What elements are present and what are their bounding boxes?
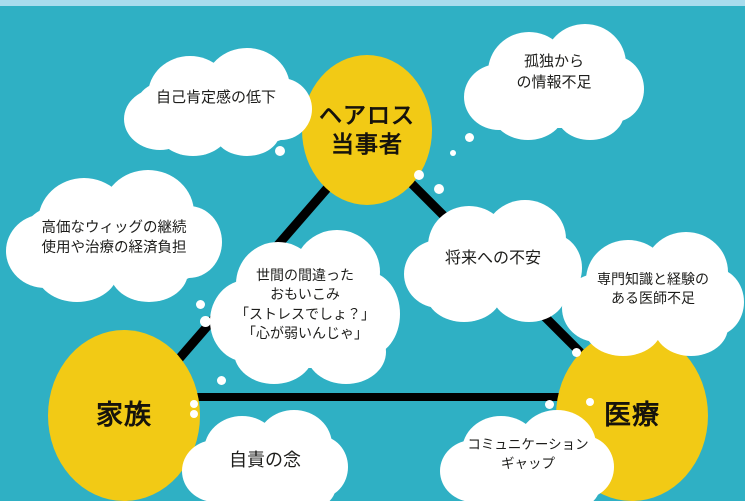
cloud-self-esteem-text: 自己肯定感の低下 xyxy=(118,88,314,109)
node-accent-dot xyxy=(414,170,424,180)
cloud-self-blame: 自責の念 xyxy=(182,408,348,501)
cloud-tail-dot xyxy=(217,376,226,385)
cloud-tail-dot xyxy=(275,146,285,156)
cloud-tail-dot xyxy=(465,133,474,142)
cloud-communication-gap: コミュニケーション ギャップ xyxy=(440,408,616,501)
node-hairloss-person[interactable]: ヘアロス 当事者 xyxy=(302,55,432,205)
cloud-isolation-info-text: 孤独から の情報不足 xyxy=(464,52,644,93)
cloud-tail-dot xyxy=(572,348,581,357)
node-hairloss-person-label: ヘアロス 当事者 xyxy=(319,101,415,160)
node-accent-dot xyxy=(190,410,198,418)
diagram-canvas: 自己肯定感の低下 孤独から の情報不足 高価なウィッグの継続 使用や治療の経済負… xyxy=(0,0,745,501)
cloud-tail-dot xyxy=(434,184,444,194)
cloud-self-blame-text: 自責の念 xyxy=(182,448,348,473)
cloud-tail-dot xyxy=(450,150,456,156)
cloud-self-esteem: 自己肯定感の低下 xyxy=(118,48,314,160)
cloud-wig-cost: 高価なウィッグの継続 使用や治療の経済負担 xyxy=(6,166,222,308)
cloud-doctor-shortage: 専門知識と経験の ある医師不足 xyxy=(562,230,744,358)
cloud-tail-dot xyxy=(545,400,554,409)
cloud-public-misconception: 世間の間違った おもいこみ 「ストレスでしょ？」 「心が弱いんじゃ」 xyxy=(210,228,400,388)
cloud-isolation-info: 孤独から の情報不足 xyxy=(464,22,644,148)
cloud-tail-dot xyxy=(190,400,198,408)
top-accent-strip xyxy=(0,0,745,6)
cloud-future-anxiety-text: 将来への不安 xyxy=(404,248,582,270)
cloud-communication-gap-text: コミュニケーション ギャップ xyxy=(440,436,616,473)
cloud-wig-cost-text: 高価なウィッグの継続 使用や治療の経済負担 xyxy=(6,218,222,258)
node-family[interactable]: 家族 xyxy=(48,330,200,501)
cloud-tail-dot xyxy=(200,316,211,327)
cloud-tail-dot xyxy=(196,300,205,309)
cloud-doctor-shortage-text: 専門知識と経験の ある医師不足 xyxy=(562,270,744,309)
cloud-public-misconception-text: 世間の間違った おもいこみ 「ストレスでしょ？」 「心が弱いんじゃ」 xyxy=(210,266,400,343)
node-family-label: 家族 xyxy=(96,398,152,433)
node-accent-dot xyxy=(586,398,594,406)
cloud-future-anxiety: 将来への不安 xyxy=(404,196,582,324)
